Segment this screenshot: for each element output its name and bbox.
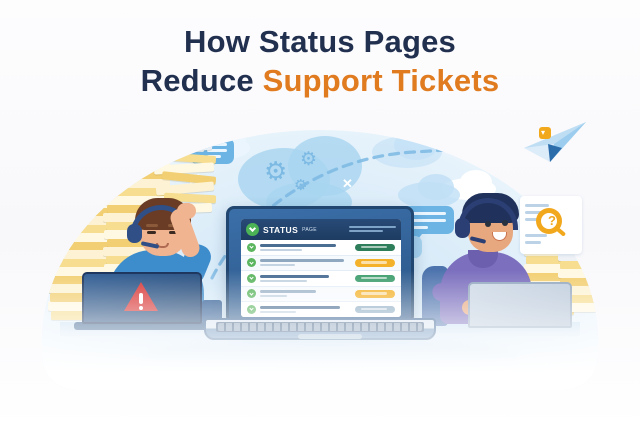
service-label bbox=[260, 244, 351, 251]
status-page-meta bbox=[349, 226, 396, 234]
page-title: How Status Pages Reduce Support Tickets bbox=[0, 22, 640, 100]
illustration-canvas: ⚙ ⚙ ⚙ ⚙ ✕ ✕ ✕ bbox=[0, 0, 640, 427]
title-line-2: Reduce Support Tickets bbox=[0, 61, 640, 100]
status-page-title: STATUS bbox=[263, 225, 298, 235]
check-circle-icon bbox=[246, 223, 259, 236]
status-badge bbox=[355, 244, 395, 252]
status-page-subtitle: PAGE bbox=[302, 227, 317, 233]
table-row[interactable] bbox=[241, 256, 401, 272]
headset-earcup bbox=[127, 224, 142, 243]
paper-plane-icon bbox=[520, 118, 590, 166]
title-line-2-accent: Support Tickets bbox=[263, 63, 500, 98]
status-badge bbox=[355, 259, 395, 267]
status-page-header: STATUS PAGE bbox=[241, 219, 401, 240]
check-circle-icon bbox=[247, 243, 256, 252]
title-line-2-dark: Reduce bbox=[141, 63, 263, 98]
title-line-1: How Status Pages bbox=[0, 22, 640, 61]
plane-badge-glyph: ▾ bbox=[541, 129, 545, 137]
service-label bbox=[260, 259, 351, 266]
agent-hand bbox=[177, 203, 196, 219]
headset-earcup bbox=[455, 218, 470, 238]
check-circle-icon bbox=[247, 258, 256, 267]
question-mark-glyph: ? bbox=[544, 213, 560, 229]
table-row[interactable] bbox=[241, 240, 401, 256]
